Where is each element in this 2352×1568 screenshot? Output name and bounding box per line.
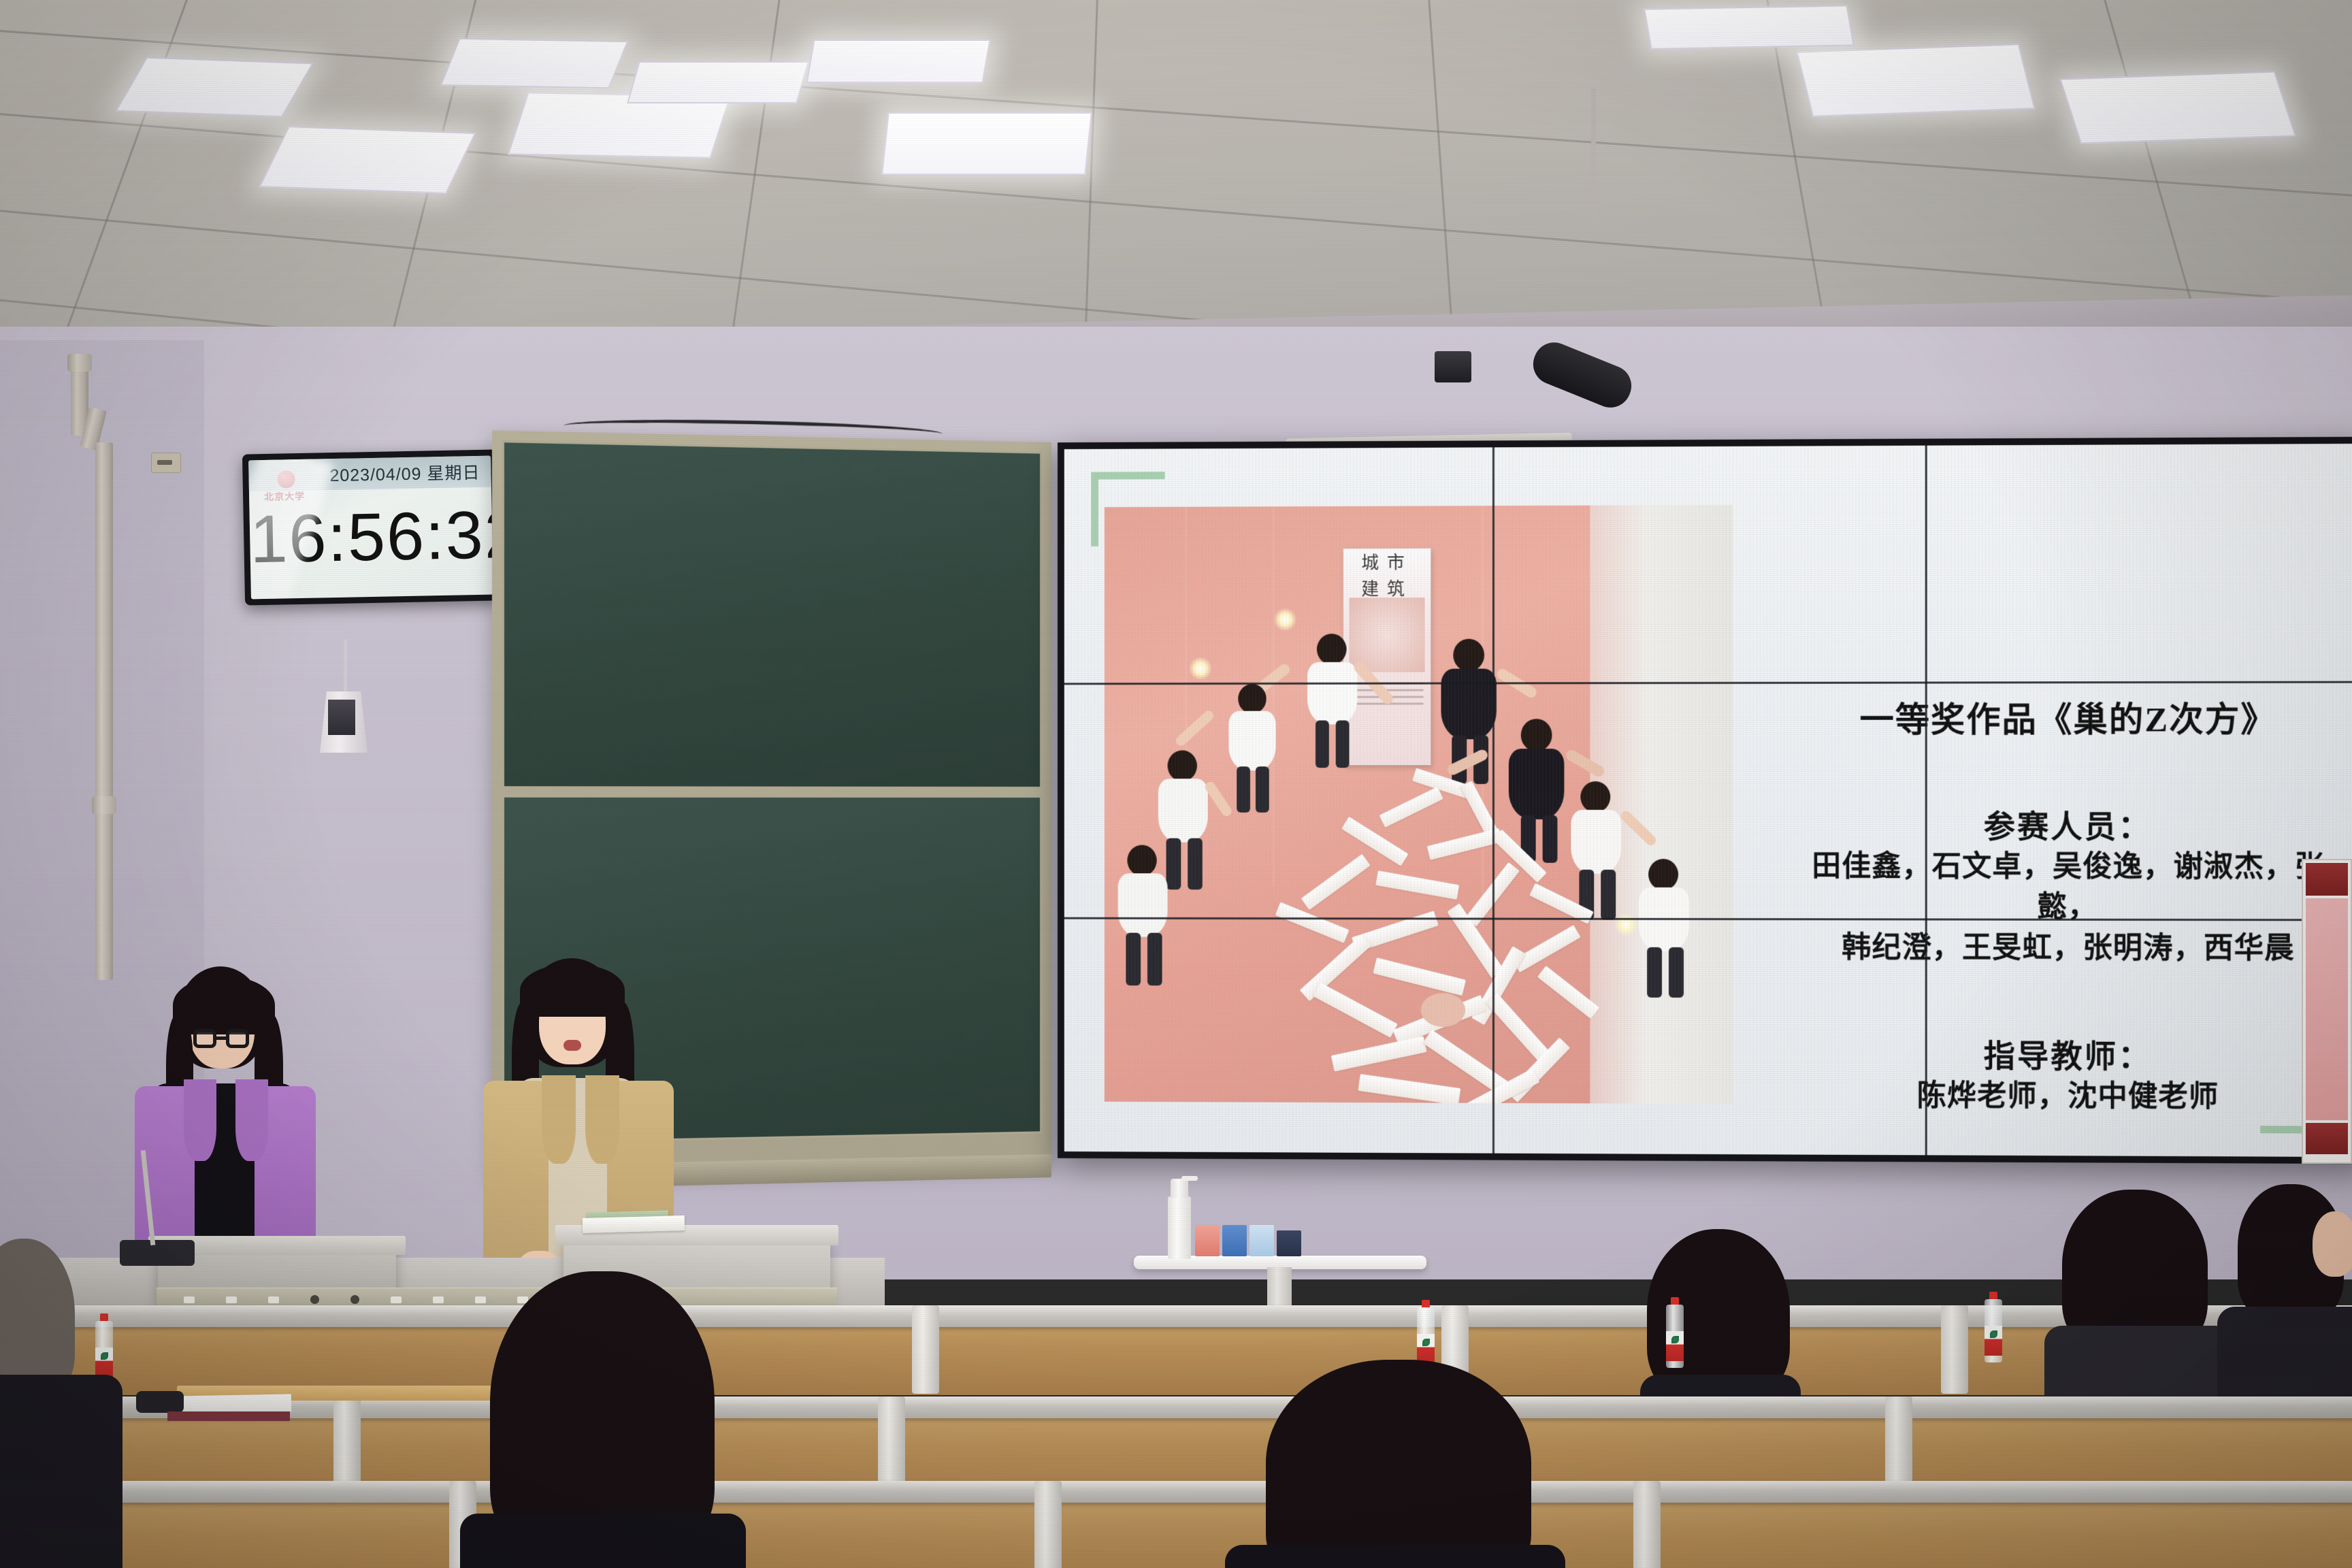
presenter-right-mouth [563, 1040, 581, 1051]
photo-sculpture [1251, 764, 1629, 1104]
water-bottle[interactable] [95, 1313, 113, 1384]
speaker-grill-icon [328, 700, 355, 735]
ceiling-light-panel [2059, 71, 2296, 144]
water-bottle[interactable] [1984, 1292, 2002, 1362]
bench-rail-front[interactable] [0, 1481, 2352, 1503]
table-box-red [1195, 1225, 1220, 1256]
bench-post [912, 1305, 939, 1394]
table-box-cyan [1249, 1225, 1274, 1256]
presenter-right-lapel [542, 1075, 576, 1164]
slide-title: 一等奖作品《巢的Z次方》 [1801, 692, 2336, 742]
wall-power-socket[interactable] [151, 453, 181, 473]
wall-pipe [95, 442, 113, 980]
poster-footer [2306, 1123, 2348, 1154]
sparkler-glow [1189, 657, 1212, 680]
ceiling-camera-icon [1435, 351, 1471, 382]
advisors-heading: 指导教师： [1801, 1030, 2336, 1077]
ceiling-light-panel [627, 61, 809, 103]
chalkboard-panel-top [502, 440, 1042, 789]
water-bottle[interactable] [1666, 1297, 1684, 1368]
ceiling-light-panel [1796, 44, 2035, 117]
sculpture-aperture [1421, 993, 1466, 1027]
presenter-left-lapel [235, 1079, 268, 1161]
photo-banner-subtitle: 建筑 [1344, 579, 1431, 599]
speaker-mount-arm [344, 640, 347, 694]
sparkler-glow [1274, 608, 1297, 631]
console-papers [583, 1215, 685, 1233]
poster-body [2306, 898, 2348, 1120]
photo-banner-title: 城市 [1361, 552, 1412, 572]
clock-screen: 2023/04/09 星期日 北京大学 16:56:32 [248, 456, 493, 600]
presentation-slide: 城市 建筑 [1064, 444, 2352, 1157]
presenter-left-lapel [184, 1079, 216, 1161]
photo-banner-image [1350, 598, 1425, 672]
bench-post [1633, 1481, 1661, 1568]
wall-speaker [320, 691, 367, 753]
ceiling-light-panel [881, 112, 1092, 175]
slide-text-block: 一等奖作品《巢的Z次方》 参赛人员： 田佳鑫，石文卓，吴俊逸，谢淑杰，张懿， 韩… [1801, 546, 2336, 1095]
clock-date: 2023/04/09 星期日 [329, 459, 480, 487]
desk-eyeglasses [136, 1391, 184, 1413]
desk-notebook [167, 1411, 290, 1421]
ceiling-light-panel [440, 38, 629, 88]
bench-row-front [0, 1492, 2352, 1568]
wall-pipe-joint [71, 354, 88, 370]
ceiling-light-panel [1644, 5, 1855, 49]
wall-notice-poster [2302, 859, 2352, 1164]
ceiling-grid-line [715, 0, 783, 381]
photo-banner: 城市 建筑 [1343, 548, 1431, 765]
participants-heading: 参赛人员： [1801, 802, 2336, 847]
advisors-line: 陈烨老师，沈中健老师 [1801, 1075, 2336, 1117]
table-box-navy [1277, 1230, 1301, 1256]
table-box-blue [1222, 1225, 1247, 1256]
participants-line-2: 韩纪澄，王旻虹，张明涛，西华晨 [1801, 928, 2336, 969]
slide-photo: 城市 建筑 [1105, 505, 1733, 1104]
poster-header [2306, 863, 2348, 896]
bench-post [1034, 1481, 1062, 1568]
lectern-microphone-base [120, 1240, 195, 1266]
ceiling-light-panel [806, 39, 990, 83]
hand-sanitizer-bottle[interactable] [1168, 1196, 1191, 1259]
ceiling-mount-rod [1591, 88, 1596, 218]
classroom-scene: 2023/04/09 星期日 北京大学 16:56:32 [0, 0, 2352, 1568]
wall-clock-display: 2023/04/09 星期日 北京大学 16:56:32 [242, 449, 500, 605]
bench-post [1941, 1305, 1968, 1394]
presenter-right-lapel [585, 1075, 619, 1164]
participants-line-1: 田佳鑫，石文卓，吴俊逸，谢淑杰，张懿， [1801, 847, 2336, 928]
ceiling-light-panel [259, 126, 476, 194]
lcd-video-wall[interactable]: 城市 建筑 [1058, 437, 2352, 1164]
ceiling-light-panel [115, 57, 313, 118]
